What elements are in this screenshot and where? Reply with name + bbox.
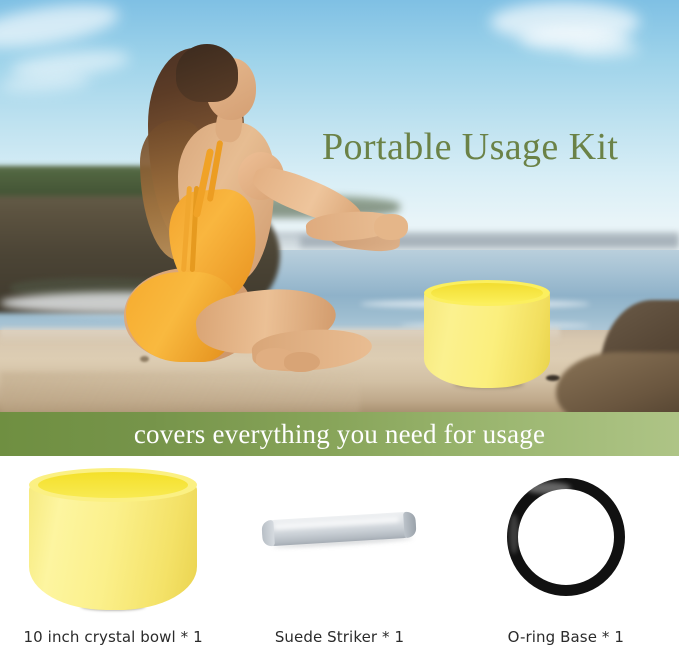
product-item-oring: O-ring Base * 1: [453, 456, 679, 660]
hand: [374, 214, 408, 240]
tagline-banner: covers everything you need for usage: [0, 412, 679, 456]
bowl-interior: [431, 283, 543, 303]
oring-highlight: [525, 482, 571, 494]
product-item-bowl: 10 inch crystal bowl * 1: [0, 456, 226, 660]
hero-photo: Portable Usage Kit: [0, 0, 679, 413]
meditating-woman: [0, 0, 679, 413]
page-title: Portable Usage Kit: [322, 125, 618, 169]
included-items-strip: 10 inch crystal bowl * 1 Suede Striker *…: [0, 456, 679, 660]
foot: [284, 352, 320, 372]
product-label-striker: Suede Striker * 1: [226, 628, 452, 646]
oring-body: [507, 478, 625, 596]
product-label-oring: O-ring Base * 1: [453, 628, 679, 646]
tagline-text: covers everything you need for usage: [134, 419, 545, 450]
o-ring-base-icon: [453, 456, 679, 616]
hair-crown: [176, 44, 238, 102]
striker-end-cap: [262, 520, 276, 547]
crystal-bowl-icon: [0, 456, 226, 616]
hero-crystal-bowl-icon: [424, 280, 550, 388]
product-item-striker: Suede Striker * 1: [226, 456, 452, 660]
oring-highlight: [509, 514, 519, 554]
product-label-bowl: 10 inch crystal bowl * 1: [0, 628, 226, 646]
product-listing-image: Portable Usage Kit covers everything you…: [0, 0, 679, 660]
suede-striker-icon: [226, 456, 452, 616]
bowl-interior: [38, 472, 188, 498]
striker-end-cap: [404, 511, 418, 538]
